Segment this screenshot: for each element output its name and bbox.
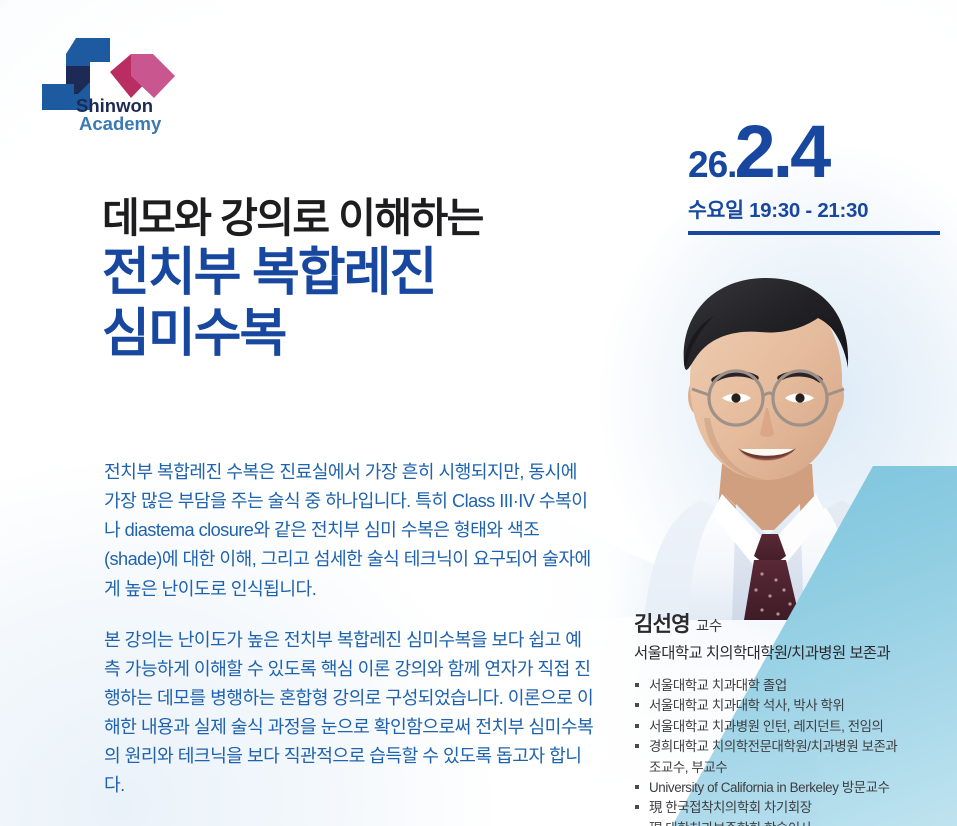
list-item: 서울대학교 치과병원 인턴, 레지던트, 전임의 [634,717,952,737]
date-time: 수요일 19:30 - 21:30 [688,193,943,223]
logo-wordmark-line2: Academy [79,113,162,134]
list-item: 現 대한치과보존학회 학술이사 [634,819,952,826]
poster-title: 전치부 복합레진 심미수복 [102,243,435,366]
description-paragraph: 전치부 복합레진 수복은 진료실에서 가장 흔히 시행되지만, 동시에 가장 많… [104,458,594,604]
date-line: 26. 2.4 [688,118,943,186]
shinwon-academy-logo: Shinwon Academy [38,36,198,136]
speaker-info: 김선영 교수 서울대학교 치의학대학원/치과병원 보존과 서울대학교 치과대학 … [634,608,952,826]
speaker-affiliation: 서울대학교 치의학대학원/치과병원 보존과 [634,641,952,663]
speaker-title: 교수 [696,615,722,636]
list-item: 서울대학교 치과대학 석사, 박사 학위 [634,696,952,716]
date-block: 26. 2.4 수요일 19:30 - 21:30 [688,118,943,235]
list-item: 서울대학교 치과대학 졸업 [634,676,952,696]
date-year: 26. [688,148,736,182]
speaker-credentials-list: 서울대학교 치과대학 졸업 서울대학교 치과대학 석사, 박사 학위 서울대학교… [634,676,952,826]
description-paragraph: 시행착오를 줄이고 보다 안정적이고 만족스러운 전치부 복합레진 수복을 임상… [104,822,594,826]
speaker-name-row: 김선영 교수 [634,608,952,638]
list-item: 경희대학교 치의학전문대학원/치과병원 보존과 조교수, 부교수 [634,737,952,778]
date-month-day: 2.4 [734,118,828,186]
description-paragraph: 본 강의는 난이도가 높은 전치부 복합레진 심미수복을 보다 쉽고 예측 가능… [104,626,594,801]
seminar-poster: Shinwon Academy 26. 2.4 수요일 19:30 - 21:3… [0,0,957,826]
list-item: 現 한국접착치의학회 차기회장 [634,798,952,818]
poster-subtitle: 데모와 강의로 이해하는 [102,184,483,244]
description-column: 전치부 복합레진 수복은 진료실에서 가장 흔히 시행되지만, 동시에 가장 많… [104,458,594,826]
list-item: University of California in Berkeley 방문교… [634,778,952,798]
speaker-name: 김선영 [634,608,690,638]
date-divider [688,231,940,235]
